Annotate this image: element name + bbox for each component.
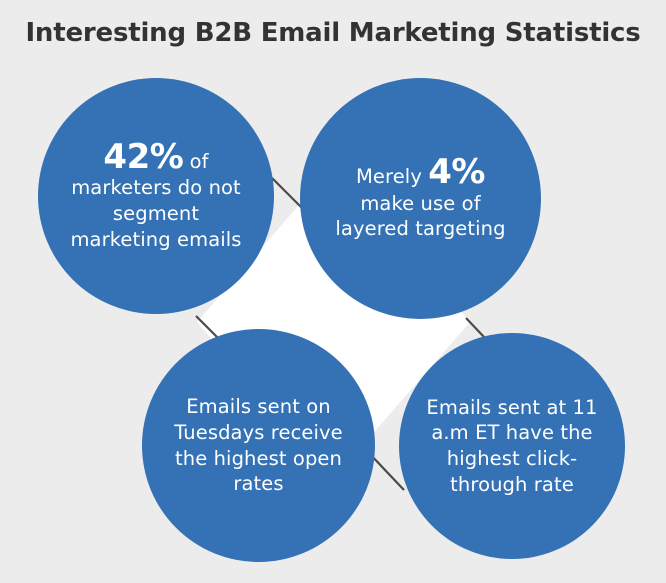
stat-lead-top-right: Merely bbox=[356, 165, 428, 188]
stat-text-bottom-right: Emails sent at 11 a.m ET have the highes… bbox=[399, 395, 625, 498]
stat-value-top-left: 42% bbox=[103, 137, 183, 177]
stat-circle-top-left[interactable]: 42% of marketers do not segment marketin… bbox=[38, 78, 274, 314]
stat-text-top-left: 42% of marketers do not segment marketin… bbox=[38, 140, 274, 253]
stat-text-top-right: Merely 4% make use of layered targeting bbox=[300, 155, 541, 242]
page-title: Interesting B2B Email Marketing Statisti… bbox=[0, 18, 666, 48]
stat-text-bottom-left: Emails sent on Tuesdays receive the high… bbox=[142, 394, 375, 497]
stat-tail-bottom-right: Emails sent at 11 a.m ET have the highes… bbox=[426, 396, 597, 496]
stat-circle-bottom-right[interactable]: Emails sent at 11 a.m ET have the highes… bbox=[399, 333, 625, 559]
infographic-canvas: Interesting B2B Email Marketing Statisti… bbox=[0, 0, 666, 583]
stat-circle-top-right[interactable]: Merely 4% make use of layered targeting bbox=[300, 78, 541, 319]
stat-value-top-right: 4% bbox=[428, 152, 485, 192]
stat-tail-top-right: make use of layered targeting bbox=[335, 192, 505, 241]
stat-tail-bottom-left: Emails sent on Tuesdays receive the high… bbox=[174, 395, 343, 495]
stat-circle-bottom-left[interactable]: Emails sent on Tuesdays receive the high… bbox=[142, 329, 375, 562]
